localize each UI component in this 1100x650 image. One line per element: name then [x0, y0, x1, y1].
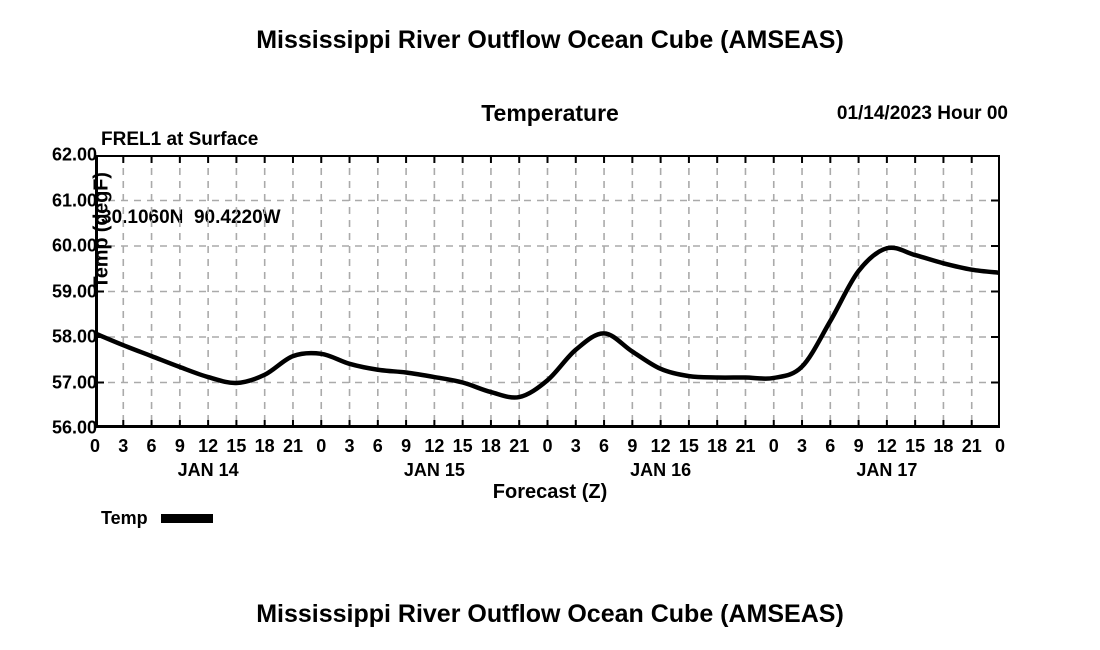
x-axis-title: Forecast (Z)	[0, 481, 1100, 504]
legend-label-temp: Temp	[101, 508, 148, 529]
station-name: FREL1 at Surface	[101, 127, 281, 153]
x-axis-tick-label: 12	[424, 436, 444, 457]
y-axis-tick-label: 61.00	[7, 190, 97, 211]
x-axis-tick-label: 15	[226, 436, 246, 457]
x-axis-tick-label: 6	[825, 436, 835, 457]
temperature-line-chart	[95, 155, 1000, 428]
x-axis-tick-label: 21	[283, 436, 303, 457]
page-title-top: Mississippi River Outflow Ocean Cube (AM…	[0, 26, 1100, 55]
x-axis-tick-label: 21	[735, 436, 755, 457]
x-axis-tick-label: 15	[453, 436, 473, 457]
x-axis-tick-label: 21	[509, 436, 529, 457]
x-axis-tick-label: 12	[651, 436, 671, 457]
x-axis-tick-label: 0	[316, 436, 326, 457]
x-axis-tick-label: 9	[401, 436, 411, 457]
chart-legend: Temp	[101, 508, 213, 529]
page-title-bottom: Mississippi River Outflow Ocean Cube (AM…	[0, 600, 1100, 629]
x-axis-tick-label: 12	[198, 436, 218, 457]
model-run-time: 01/14/2023 Hour 00	[837, 103, 1008, 125]
x-axis-tick-label: 6	[599, 436, 609, 457]
x-axis-tick-label: 0	[769, 436, 779, 457]
x-axis-day-label: JAN 14	[178, 460, 239, 481]
y-axis-tick-label: 58.00	[7, 327, 97, 348]
x-axis-tick-label: 9	[627, 436, 637, 457]
x-axis-day-label: JAN 17	[856, 460, 917, 481]
y-axis-tick-label: 60.00	[7, 236, 97, 257]
x-axis-tick-label: 18	[707, 436, 727, 457]
x-axis-tick-label: 3	[118, 436, 128, 457]
x-axis-tick-label: 18	[255, 436, 275, 457]
x-axis-tick-label: 3	[345, 436, 355, 457]
x-axis-day-label: JAN 16	[630, 460, 691, 481]
x-axis-tick-label: 15	[905, 436, 925, 457]
x-axis-tick-label: 0	[542, 436, 552, 457]
y-axis-tick-label: 59.00	[7, 281, 97, 302]
x-axis-tick-label: 9	[175, 436, 185, 457]
gridlines	[95, 155, 1000, 428]
x-axis-tick-label: 6	[147, 436, 157, 457]
y-axis-tick-label: 62.00	[7, 145, 97, 166]
y-axis-tick-label: 57.00	[7, 372, 97, 393]
x-axis-tick-label: 9	[854, 436, 864, 457]
x-axis-tick-label: 0	[90, 436, 100, 457]
x-axis-day-label: JAN 15	[404, 460, 465, 481]
x-axis-tick-label: 18	[933, 436, 953, 457]
x-axis-tick-label: 15	[679, 436, 699, 457]
y-axis-tick-label: 56.00	[7, 418, 97, 439]
x-axis-tick-label: 3	[797, 436, 807, 457]
x-axis-tick-label: 18	[481, 436, 501, 457]
x-axis-tick-label: 12	[877, 436, 897, 457]
x-axis-tick-label: 0	[995, 436, 1005, 457]
x-axis-tick-label: 6	[373, 436, 383, 457]
x-axis-tick-label: 21	[962, 436, 982, 457]
chart-plot-area: Temp (degF) 56.0057.0058.0059.0060.0061.…	[95, 155, 1000, 428]
x-axis-tick-label: 3	[571, 436, 581, 457]
data-series-temp	[95, 248, 1000, 398]
legend-swatch-temp	[161, 514, 213, 523]
